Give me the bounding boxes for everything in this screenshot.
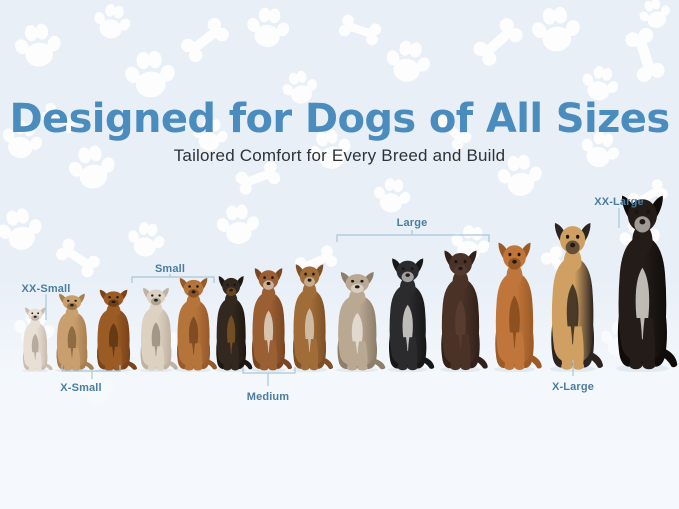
dog-labrador-icon <box>432 248 489 372</box>
size-label-large[interactable]: Large <box>397 217 428 230</box>
dog-english-bulldog-icon <box>328 270 387 372</box>
size-label-small[interactable]: Small <box>155 263 185 276</box>
dog-size-lineup <box>0 0 679 509</box>
size-label-xx-small[interactable]: XX-Small <box>22 283 71 296</box>
dog-german-shepherd-icon <box>541 220 604 372</box>
size-label-medium[interactable]: Medium <box>247 391 289 404</box>
size-label-x-small[interactable]: X-Small <box>60 382 101 395</box>
poster-canvas: Designed for Dogs of All Sizes Tailored … <box>0 0 679 509</box>
size-label-x-large[interactable]: X-Large <box>552 381 594 394</box>
page-title: Designed for Dogs of All Sizes <box>0 98 679 140</box>
dog-basenji-icon <box>285 262 334 372</box>
page-subtitle: Tailored Comfort for Every Breed and Bui… <box>0 146 679 166</box>
dog-dachshund-icon <box>89 288 138 372</box>
dog-vizsla-icon <box>486 240 543 372</box>
dog-bernese-icon <box>606 192 679 372</box>
size-label-xx-large[interactable]: XX-Large <box>594 196 644 209</box>
dog-border-collie-icon <box>380 256 435 372</box>
heading-block: Designed for Dogs of All Sizes Tailored … <box>0 98 679 166</box>
